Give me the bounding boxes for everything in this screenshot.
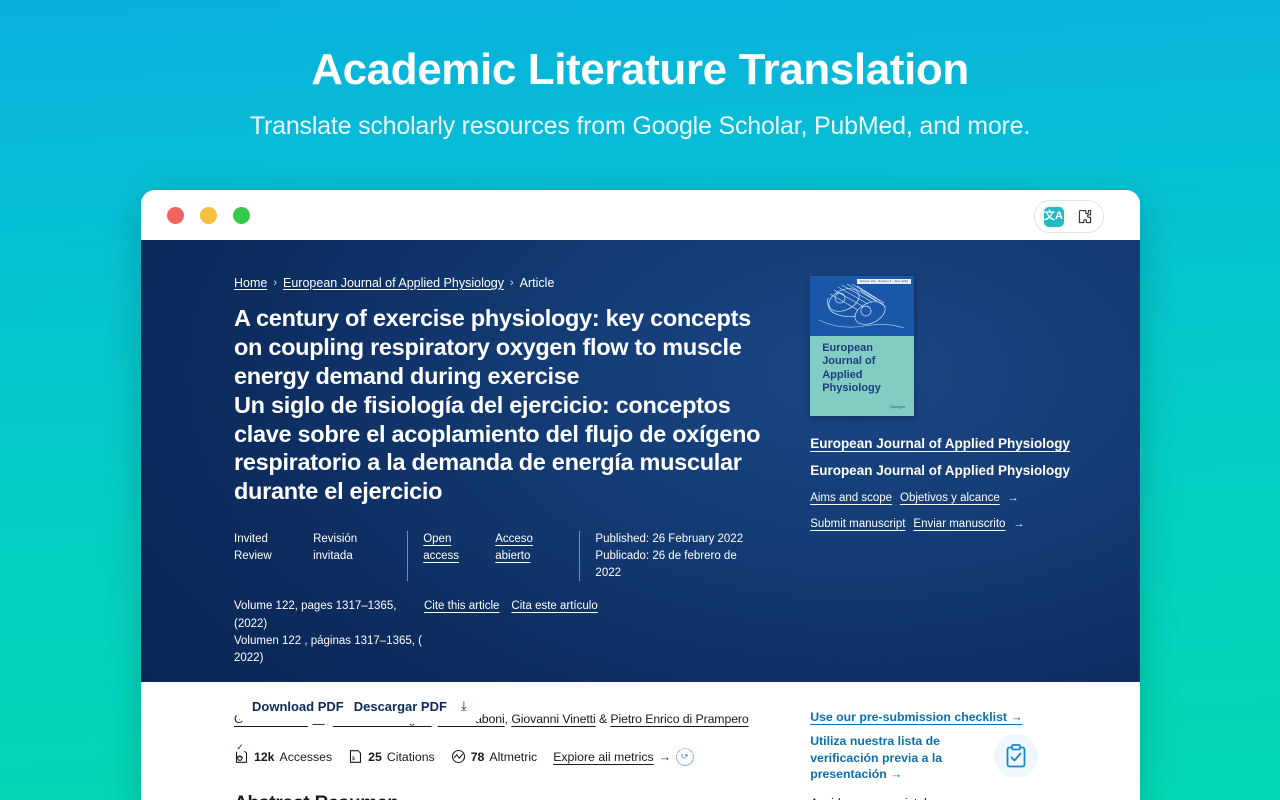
abstract-heading: Abstract Resumen (234, 793, 766, 800)
download-pdf-label-en: Download PDF (252, 699, 344, 714)
extensions-puzzle-icon (1077, 209, 1093, 225)
download-icon: ⤓ (461, 698, 467, 714)
volume-info-es: Volumen 122 , páginas 1317–1365, ( 2022) (234, 633, 424, 668)
full-access-link-es[interactable]: acceso abierto (637, 741, 710, 753)
breadcrumb-separator: › (273, 277, 277, 289)
browser-window: 文A Home › European Journal of Applied Ph… (141, 190, 1140, 800)
article-title-es: Un siglo de fisiología del ejercicio: co… (234, 391, 766, 507)
aims-and-scope-label-es: Objetivos y alcance (900, 492, 1000, 504)
abstract-heading-en: Abstract (234, 793, 309, 800)
full-access-notice: ✓ You have full access to this Tienes ac… (234, 741, 766, 774)
browser-chrome-bar: 文A (141, 190, 1140, 240)
page-subtitle: Translate scholarly resources from Googl… (0, 112, 1280, 141)
submit-manuscript-link[interactable]: Submit manuscript Enviar manuscrito → (810, 518, 1096, 530)
promo-header: Academic Literature Translation Translat… (0, 0, 1280, 141)
translate-extension-icon: 文A (1044, 207, 1064, 227)
traffic-lights (167, 207, 250, 224)
presubmission-checklist-link[interactable]: Use our pre-submission checklist → (810, 710, 1096, 724)
checklist-description: Avoid common mistakes on your manuscript… (810, 795, 1000, 800)
published-date-es: Publicado: 26 de febrero de 2022 (595, 548, 751, 581)
download-pdf-label-es: Descargar PDF (354, 699, 447, 714)
breadcrumb-current: Article (520, 276, 555, 290)
journal-name-link[interactable]: European Journal of Applied Physiology (810, 436, 1096, 451)
arrow-right-icon: → (1008, 492, 1019, 504)
full-access-tail-en: article (719, 741, 749, 753)
full-access-text-es: Tienes acceso completo a esto (400, 741, 555, 753)
open-access-link-en[interactable]: Open access (423, 531, 484, 564)
cite-article-link-en[interactable]: Cite this article (424, 598, 499, 615)
article-type-en: Invited Review (234, 531, 302, 564)
download-pdf-button[interactable]: Download PDF Descargar PDF ⤓ (234, 688, 485, 724)
full-access-text-en: You have full access to this (255, 741, 391, 753)
article-hero: Home › European Journal of Applied Physi… (141, 240, 1140, 682)
maximize-window-button[interactable] (233, 207, 250, 224)
submit-manuscript-label-es: Enviar manuscrito (913, 518, 1005, 530)
published-date-en: Published: 26 February 2022 (595, 531, 751, 548)
open-access-cell: Open access Acceso abierto (407, 531, 579, 581)
abstract-heading-es: Resumen (315, 793, 399, 800)
cover-artwork-icon (814, 280, 910, 338)
check-circle-icon: ✓ (234, 741, 246, 753)
volume-info-en: Volume 122, pages 1317–1365, (2022) (234, 598, 424, 633)
aims-and-scope-label-en: Aims and scope (810, 492, 892, 504)
cover-title-text: EuropeanJournal ofAppliedPhysiology (822, 342, 881, 396)
article-title-en: A century of exercise physiology: key co… (234, 304, 766, 391)
breadcrumb: Home › European Journal of Applied Physi… (234, 276, 766, 290)
close-window-button[interactable] (167, 207, 184, 224)
cite-links: Cite this article Cita este artículo (424, 598, 598, 615)
extensions-toolbar: 文A (1034, 200, 1104, 233)
aims-and-scope-link[interactable]: Aims and scope Objetivos y alcance → (810, 492, 1096, 504)
journal-name-translated: European Journal of Applied Physiology (810, 463, 1096, 478)
cover-publisher-label: Springer (890, 404, 905, 409)
open-access-link-es[interactable]: Acceso abierto (495, 531, 564, 564)
presubmission-checklist-link-es[interactable]: Utiliza nuestra lista de verificación pr… (810, 733, 1010, 783)
volume-row: Volume 122, pages 1317–1365, (2022) Volu… (234, 598, 766, 667)
cite-article-link-es[interactable]: Cita este artículo (511, 598, 597, 615)
published-date-cell: Published: 26 February 2022 Publicado: 2… (579, 531, 766, 581)
full-access-link-en[interactable]: open access (564, 741, 627, 753)
checklist-icon-container (994, 734, 1038, 778)
clipboard-check-icon (1005, 744, 1027, 768)
extensions-menu-button[interactable] (1071, 204, 1098, 229)
submit-manuscript-label-en: Submit manuscript (810, 518, 905, 530)
cover-issue-label: Volume 122 · Number 6 · June 2022 (857, 279, 911, 284)
minimize-window-button[interactable] (200, 207, 217, 224)
article-type-cell: Invited Review Revisión invitada (234, 531, 407, 564)
translate-extension-button[interactable]: 文A (1040, 204, 1067, 229)
breadcrumb-home[interactable]: Home (234, 276, 267, 290)
breadcrumb-separator-2: › (510, 277, 514, 289)
full-access-tail-es: artículo (234, 762, 271, 774)
journal-cover-image[interactable]: Volume 122 · Number 6 · June 2022 Europe… (810, 276, 914, 416)
arrow-right-icon-2: → (1013, 518, 1024, 530)
article-type-es: Revisión invitada (313, 531, 392, 564)
breadcrumb-journal[interactable]: European Journal of Applied Physiology (283, 276, 504, 290)
page-title: Academic Literature Translation (0, 46, 1280, 94)
article-meta-row: Invited Review Revisión invitada Open ac… (234, 531, 766, 581)
